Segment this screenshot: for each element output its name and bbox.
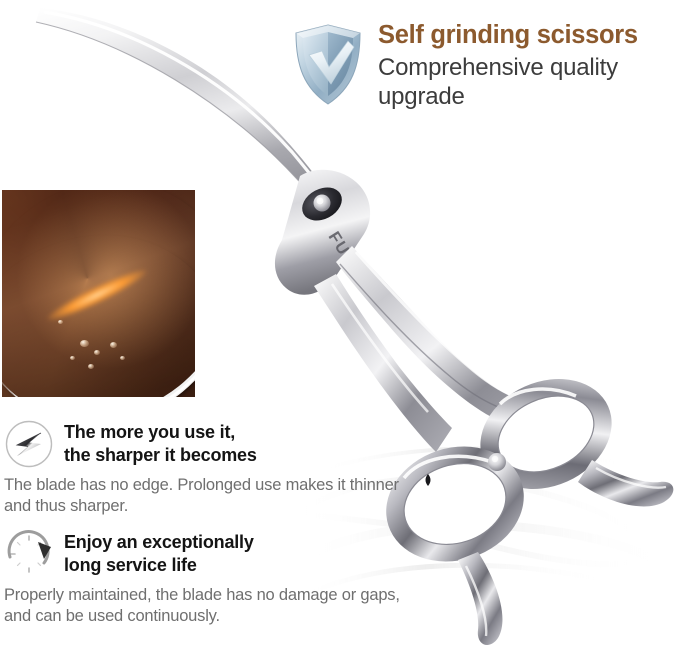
feature-block-sharpness: The more you use it, the sharper it beco…	[4, 418, 404, 518]
pivot-recess	[296, 181, 347, 227]
feature-title: The more you use it, the sharper it beco…	[64, 418, 257, 468]
feature-body: Properly maintained, the blade has no da…	[4, 585, 404, 628]
ring-notch	[426, 474, 431, 486]
droplet	[94, 350, 100, 355]
upper-finger-ring	[463, 359, 630, 509]
droplet	[110, 342, 117, 348]
tension-knob	[488, 453, 506, 471]
droplet	[80, 340, 89, 347]
lower-ring-tang	[458, 552, 502, 645]
blade-closeup-photo	[2, 190, 195, 397]
blade-shoulder	[275, 170, 370, 295]
shield-check-icon	[292, 22, 364, 108]
brand-engraving: FUGOSP	[325, 229, 382, 305]
feature-body: The blade has no edge. Prolonged use mak…	[4, 475, 404, 518]
lightning-bolt-icon	[4, 419, 54, 469]
page-subtitle: Comprehensive quality upgrade	[378, 53, 672, 113]
upper-shank	[336, 246, 560, 427]
droplet	[70, 356, 75, 360]
page-title: Self grinding scissors	[378, 21, 672, 50]
feature-title-line-2: the sharper it becomes	[64, 444, 257, 467]
feature-title-line-1: The more you use it,	[64, 421, 257, 444]
upper-ring-tang	[578, 460, 673, 506]
header-block: Self grinding scissors Comprehensive qua…	[292, 18, 672, 112]
clock-arrow-icon	[4, 529, 54, 579]
product-marketing-image: FUGOSP	[0, 0, 679, 654]
droplet	[58, 320, 63, 324]
feature-title-line-1: Enjoy an exceptionally	[64, 531, 254, 554]
droplet	[120, 356, 125, 360]
feature-header: Enjoy an exceptionally long service life	[4, 528, 404, 579]
pivot-screw	[314, 195, 331, 212]
feature-block-longevity: Enjoy an exceptionally long service life…	[4, 528, 404, 628]
feature-title-line-2: long service life	[64, 554, 254, 577]
header-text: Self grinding scissors Comprehensive qua…	[378, 18, 672, 112]
feature-title: Enjoy an exceptionally long service life	[64, 528, 254, 578]
droplet	[88, 364, 94, 369]
feature-header: The more you use it, the sharper it beco…	[4, 418, 404, 469]
